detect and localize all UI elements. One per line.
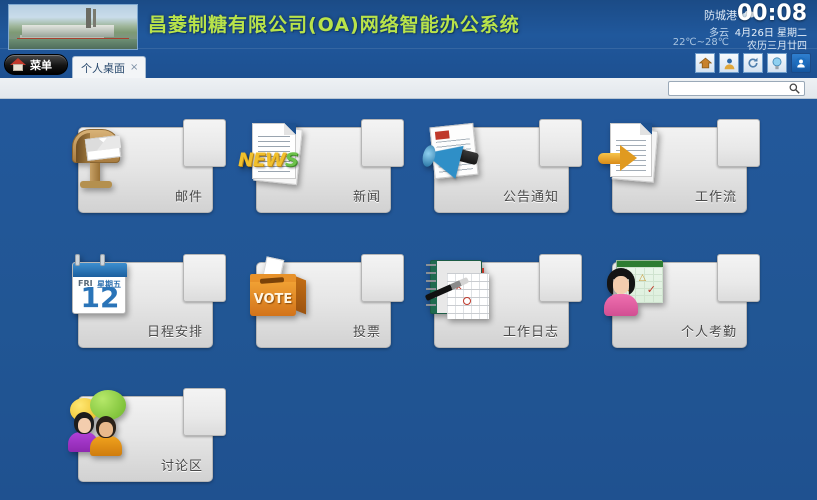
tile-vote[interactable]: VOTE 投票 bbox=[256, 254, 391, 348]
search-input[interactable] bbox=[673, 82, 785, 95]
tile-label: 工作日志 bbox=[503, 321, 559, 340]
tile-label: 个人考勤 bbox=[681, 321, 737, 340]
search-icon[interactable] bbox=[785, 83, 803, 94]
menu-button[interactable]: 菜单 bbox=[4, 54, 68, 75]
tile-label: 新闻 bbox=[353, 186, 381, 205]
home-icon[interactable] bbox=[695, 53, 715, 73]
tile-news[interactable]: NEWS 新闻 bbox=[256, 119, 391, 213]
tile-label: 日程安排 bbox=[147, 321, 203, 340]
weather-widget: 防城港 00:08 多云 4月26日 星期二 22℃~28℃ 农历三月廿四 bbox=[657, 2, 809, 48]
calendar-icon: FRI 星期五 12 bbox=[64, 252, 142, 330]
page-header: 昌菱制糖有限公司(OA)网络智能办公系统 防城港 00:08 多云 4月26日 … bbox=[0, 0, 817, 78]
menu-button-label: 菜单 bbox=[30, 57, 52, 73]
photo-chimney bbox=[86, 8, 91, 28]
search-box[interactable] bbox=[668, 81, 805, 96]
site-title: 昌菱制糖有限公司(OA)网络智能办公系统 bbox=[148, 10, 520, 37]
tile-workflow[interactable]: 工作流 bbox=[612, 119, 747, 213]
tile-tab bbox=[717, 254, 760, 302]
weather-city: 防城港 bbox=[704, 7, 737, 23]
clock-time: 00:08 bbox=[737, 1, 807, 26]
temperature-range: 22℃~28℃ bbox=[673, 37, 729, 48]
person-spreadsheet-icon: △✓ bbox=[598, 252, 676, 330]
tile-label: 投票 bbox=[353, 321, 381, 340]
news-document-icon: NEWS bbox=[242, 117, 320, 195]
tile-notice[interactable]: 公告通知 bbox=[434, 119, 569, 213]
tile-tab bbox=[539, 254, 582, 302]
vote-box-icon: VOTE bbox=[242, 252, 320, 330]
refresh-icon[interactable] bbox=[743, 53, 763, 73]
vote-text: VOTE bbox=[250, 292, 296, 307]
tile-mail[interactable]: 邮件 bbox=[78, 119, 213, 213]
lunar-date: 农历三月廿四 bbox=[747, 37, 807, 52]
document-arrow-icon bbox=[598, 117, 676, 195]
calendar-day: 12 bbox=[73, 283, 127, 313]
tab-label: 个人桌面 bbox=[81, 60, 125, 76]
tab-personal-desktop[interactable]: 个人桌面 × bbox=[72, 56, 146, 78]
notebook-pen-icon: ✕ bbox=[420, 252, 498, 330]
tile-tab bbox=[361, 119, 404, 167]
tile-label: 讨论区 bbox=[161, 455, 203, 474]
house-icon bbox=[10, 58, 26, 72]
tile-label: 邮件 bbox=[175, 186, 203, 205]
oa-desktop-page: 昌菱制糖有限公司(OA)网络智能办公系统 防城港 00:08 多云 4月26日 … bbox=[0, 0, 817, 500]
photo-water bbox=[9, 39, 137, 49]
user-settings-icon[interactable] bbox=[719, 53, 739, 73]
header-icon-bar bbox=[695, 53, 811, 74]
mailbox-icon bbox=[64, 117, 142, 195]
tile-label: 公告通知 bbox=[503, 186, 559, 205]
tile-label: 工作流 bbox=[695, 186, 737, 205]
people-chat-icon bbox=[64, 386, 142, 464]
toolbar-strip bbox=[0, 78, 817, 99]
news-text-highlight: S bbox=[285, 149, 298, 171]
tile-tab bbox=[183, 388, 226, 436]
tile-tab bbox=[717, 119, 760, 167]
megaphone-icon bbox=[420, 117, 498, 195]
tile-tab bbox=[361, 254, 404, 302]
tile-tab bbox=[183, 254, 226, 302]
tile-tab bbox=[539, 119, 582, 167]
account-icon[interactable] bbox=[791, 53, 811, 73]
tile-attendance[interactable]: △✓ 个人考勤 bbox=[612, 254, 747, 348]
tile-worklog[interactable]: ✕ 工作日志 bbox=[434, 254, 569, 348]
news-text: NEW bbox=[238, 149, 285, 171]
tile-tab bbox=[183, 119, 226, 167]
weather-top-row: 防城港 00:08 bbox=[657, 3, 809, 25]
lightbulb-icon[interactable] bbox=[767, 53, 787, 73]
tile-forum[interactable]: 讨论区 bbox=[78, 388, 213, 482]
close-icon[interactable]: × bbox=[130, 62, 138, 73]
tile-schedule[interactable]: FRI 星期五 12 日程安排 bbox=[78, 254, 213, 348]
photo-building bbox=[22, 25, 114, 36]
company-photo-logo bbox=[8, 4, 138, 50]
desktop-area: 邮件 NEWS 新闻 公告通知 bbox=[0, 99, 817, 500]
